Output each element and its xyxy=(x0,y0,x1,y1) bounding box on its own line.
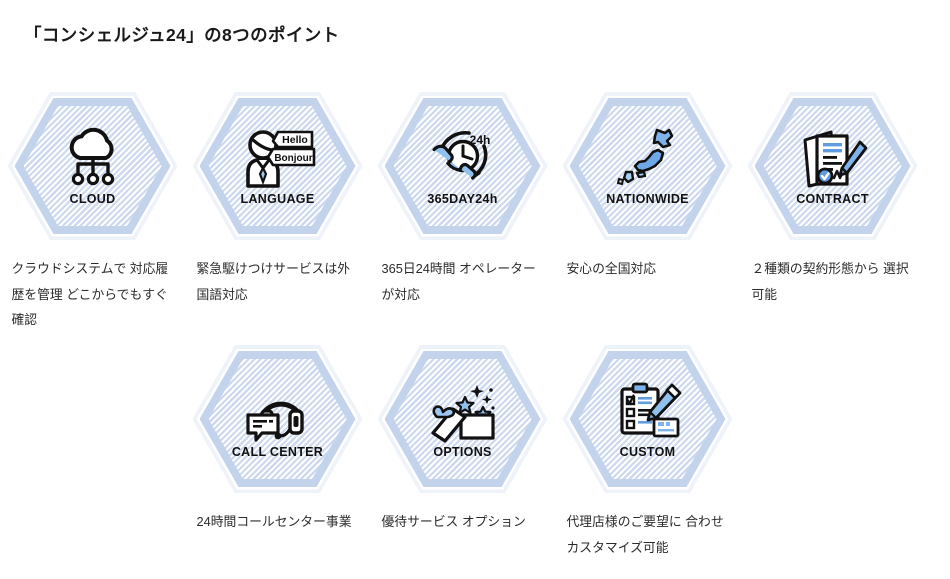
point-card-custom[interactable]: CUSTOM 代理店様のご要望に 合わせカスタマイズ可能 xyxy=(555,345,740,560)
page-title: 「コンシェルジュ24」の8つのポイント xyxy=(24,22,340,47)
bubble-text-hello: Hello xyxy=(282,134,308,146)
badge-label: 365DAY24h xyxy=(427,193,497,206)
hexagon-content: CONTRACT xyxy=(748,92,918,240)
hexagon-content: 24h 365DAY24h xyxy=(378,92,548,240)
headset-call-center-icon xyxy=(241,380,315,444)
hexagon-content: CALL CENTER xyxy=(193,345,363,493)
badge-label: CALL CENTER xyxy=(232,446,323,459)
hexagon-badge-language[interactable]: Hello Bonjour LANGUAGE xyxy=(193,92,363,240)
point-caption: クラウドシステムで 対応履歴を管理 どこからでもすぐ確認 xyxy=(8,256,178,333)
point-caption: 24時間コールセンター事業 xyxy=(193,509,363,535)
point-card-contract[interactable]: CONTRACT ２種類の契約形態から 選択可能 xyxy=(740,92,925,307)
badge-label: NATIONWIDE xyxy=(606,193,689,206)
points-row-2: CALL CENTER 24時間コールセンター事業 xyxy=(0,345,925,560)
badge-label: OPTIONS xyxy=(433,446,491,459)
hexagon-badge-options[interactable]: OPTIONS xyxy=(378,345,548,493)
hexagon-badge-cloud[interactable]: CLOUD xyxy=(8,92,178,240)
bubble-text-bonjour: Bonjour xyxy=(274,153,312,164)
point-caption: 代理店様のご要望に 合わせカスタマイズ可能 xyxy=(563,509,733,560)
point-card-365day24h[interactable]: 24h 365DAY24h 365日24時間 オペレーターが対応 xyxy=(370,92,555,307)
phone-clock-24h-icon: 24h xyxy=(426,127,500,191)
badge-label: CUSTOM xyxy=(620,446,676,459)
point-caption: ２種類の契約形態から 選択可能 xyxy=(748,256,918,307)
badge-label: CONTRACT xyxy=(796,193,869,206)
point-caption: 優待サービス オプション xyxy=(378,509,548,535)
point-caption: 緊急駆けつけサービスは外国語対応 xyxy=(193,256,363,307)
clock-24h-text: 24h xyxy=(469,133,490,147)
clipboard-pencil-custom-icon xyxy=(611,380,685,444)
point-card-nationwide[interactable]: NATIONWIDE 安心の全国対応 xyxy=(555,92,740,282)
hexagon-content: OPTIONS xyxy=(378,345,548,493)
hexagon-badge-nationwide[interactable]: NATIONWIDE xyxy=(563,92,733,240)
japan-map-icon xyxy=(611,127,685,191)
hexagon-badge-365day24h[interactable]: 24h 365DAY24h xyxy=(378,92,548,240)
badge-label: CLOUD xyxy=(70,193,116,206)
point-card-language[interactable]: Hello Bonjour LANGUAGE 緊急駆けつけサービスは外国語対応 xyxy=(185,92,370,307)
point-card-cloud[interactable]: CLOUD クラウドシステムで 対応履歴を管理 どこからでもすぐ確認 xyxy=(0,92,185,333)
gift-box-options-icon xyxy=(426,380,500,444)
point-card-options[interactable]: OPTIONS 優待サービス オプション xyxy=(370,345,555,535)
hexagon-content: CLOUD xyxy=(8,92,178,240)
language-speech-person-icon: Hello Bonjour xyxy=(241,127,315,191)
badge-label: LANGUAGE xyxy=(241,193,315,206)
points-section: 「コンシェルジュ24」の8つのポイント xyxy=(0,0,950,579)
hexagon-content: NATIONWIDE xyxy=(563,92,733,240)
contract-document-pen-icon xyxy=(796,127,870,191)
hexagon-badge-custom[interactable]: CUSTOM xyxy=(563,345,733,493)
point-card-call-center[interactable]: CALL CENTER 24時間コールセンター事業 xyxy=(185,345,370,535)
point-caption: 安心の全国対応 xyxy=(563,256,733,282)
hexagon-badge-contract[interactable]: CONTRACT xyxy=(748,92,918,240)
points-row-1: CLOUD クラウドシステムで 対応履歴を管理 どこからでもすぐ確認 xyxy=(0,92,925,333)
hexagon-content: CUSTOM xyxy=(563,345,733,493)
hexagon-content: Hello Bonjour LANGUAGE xyxy=(193,92,363,240)
point-caption: 365日24時間 オペレーターが対応 xyxy=(378,256,548,307)
hexagon-badge-call-center[interactable]: CALL CENTER xyxy=(193,345,363,493)
cloud-icon xyxy=(56,127,130,191)
